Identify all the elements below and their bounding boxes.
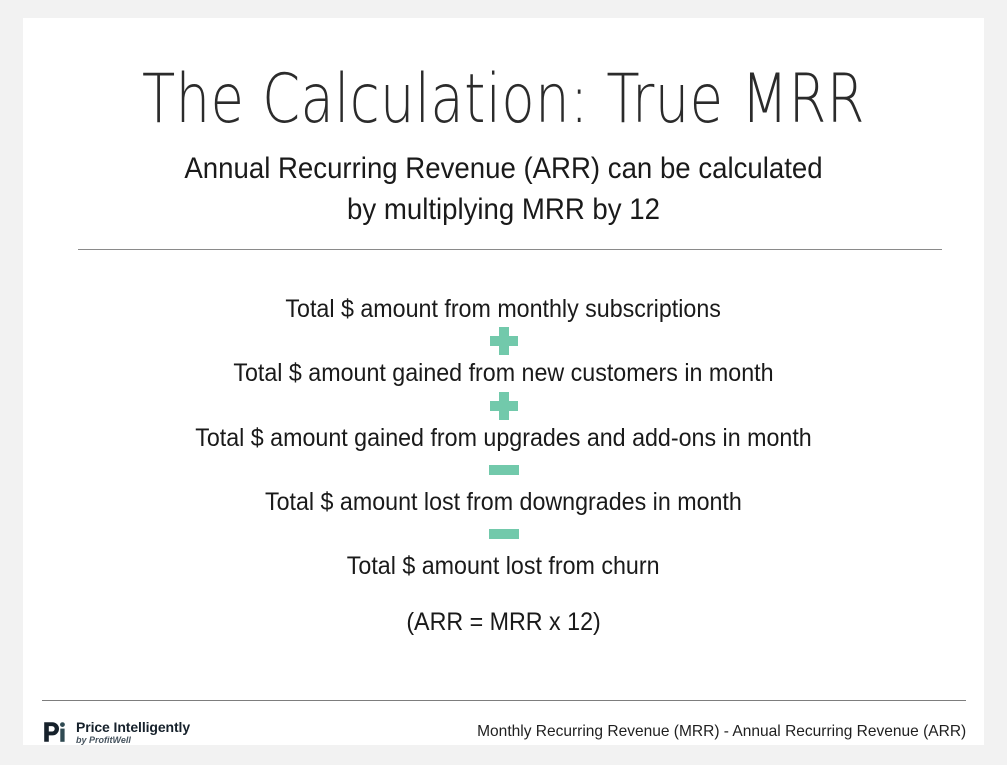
formula-line-upgrades: Total $ amount gained from upgrades and … — [195, 425, 812, 451]
formula-line-new-customers: Total $ amount gained from new customers… — [233, 360, 773, 386]
slide-subtitle-line-1: Annual Recurring Revenue (ARR) can be ca… — [61, 148, 945, 189]
brand-tagline: by ProfitWell — [76, 736, 190, 745]
plus-icon — [490, 327, 518, 355]
formula-result: (ARR = MRR x 12) — [406, 609, 600, 635]
brand-logo: Price Intelligently by ProfitWell — [42, 719, 190, 745]
minus-icon — [489, 529, 519, 539]
operator-row-4 — [489, 515, 519, 553]
formula-stack: Total $ amount from monthly subscription… — [23, 296, 984, 636]
operator-row-3 — [489, 451, 519, 489]
operator-row-2 — [490, 387, 518, 425]
brand-name: Price Intelligently — [76, 720, 190, 734]
slide-subtitle-line-2: by multiplying MRR by 12 — [61, 189, 945, 230]
slide-card: The Calculation: True MRR Annual Recurri… — [23, 18, 984, 745]
footer-divider — [42, 700, 966, 701]
operator-row-1 — [490, 322, 518, 360]
pi-logo-icon — [42, 719, 68, 745]
formula-line-downgrades: Total $ amount lost from downgrades in m… — [265, 489, 742, 515]
footer-caption: Monthly Recurring Revenue (MRR) - Annual… — [477, 723, 966, 741]
minus-icon — [489, 465, 519, 475]
slide-subtitle: Annual Recurring Revenue (ARR) can be ca… — [61, 148, 945, 231]
page-title: The Calculation: True MRR — [119, 66, 888, 134]
plus-icon — [490, 392, 518, 420]
formula-line-churn: Total $ amount lost from churn — [347, 553, 660, 579]
slide-footer: Price Intelligently by ProfitWell Monthl… — [42, 710, 966, 754]
header-divider — [78, 249, 942, 250]
formula-line-subscriptions: Total $ amount from monthly subscription… — [286, 296, 721, 322]
brand-text: Price Intelligently by ProfitWell — [76, 720, 190, 745]
